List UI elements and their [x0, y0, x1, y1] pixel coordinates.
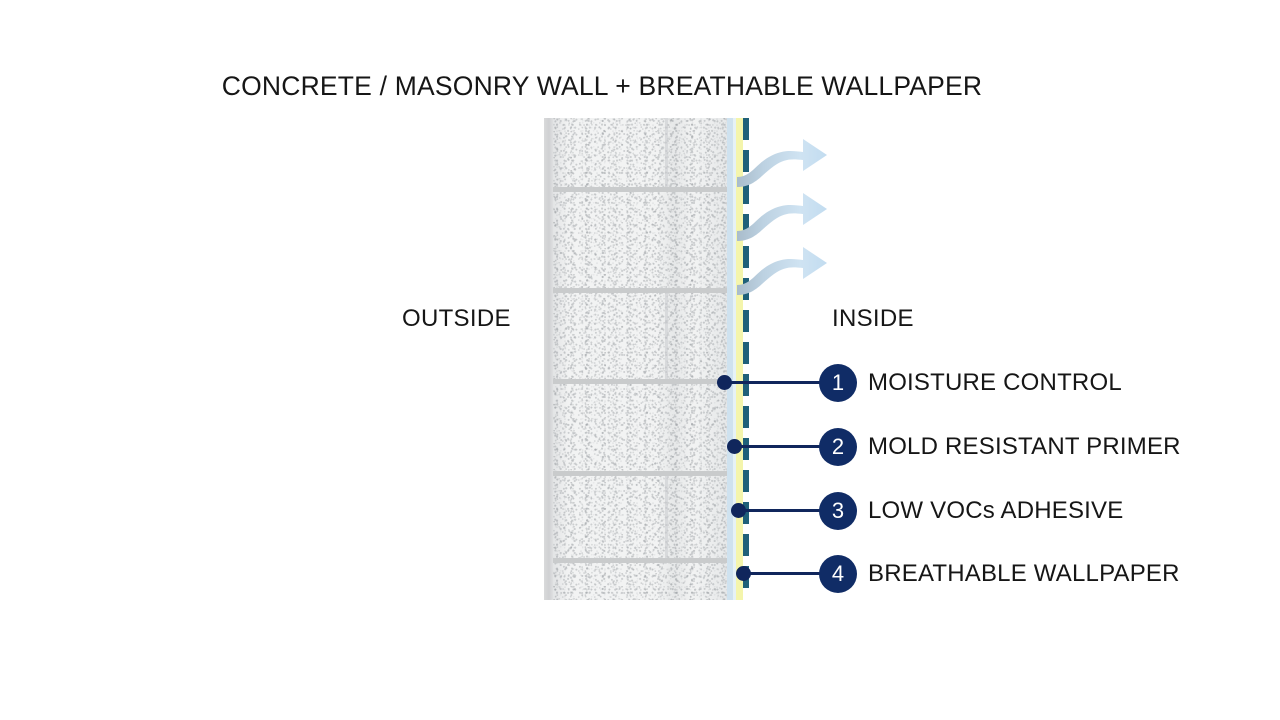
airflow-arrow-icon	[737, 139, 827, 187]
mortar-joint	[553, 187, 727, 192]
masonry-wall-body	[553, 118, 727, 600]
mortar-joint	[553, 471, 727, 476]
head-joint	[665, 293, 668, 379]
callout-badge-4[interactable]: 4	[819, 555, 857, 593]
mortar-joint	[553, 288, 727, 293]
airflow-arrows-group	[735, 125, 845, 295]
callout-label-4: BREATHABLE WALLPAPER	[868, 555, 1180, 593]
callout-label-3: LOW VOCs ADHESIVE	[868, 492, 1123, 530]
callout-badge-2[interactable]: 2	[819, 428, 857, 466]
callout-leader-line	[745, 572, 823, 575]
callout-leader-line	[736, 445, 823, 448]
mortar-joint	[553, 558, 727, 563]
diagram-canvas: CONCRETE / MASONRY WALL + BREATHABLE WAL…	[0, 0, 1280, 720]
caption-inside: INSIDE	[832, 305, 914, 333]
wall-outer-edge-shadow	[544, 118, 553, 600]
caption-outside: OUTSIDE	[402, 305, 511, 333]
airflow-arrow-icon	[737, 193, 827, 241]
callout-badge-3[interactable]: 3	[819, 492, 857, 530]
head-joint	[665, 476, 668, 558]
wall-assembly-section	[544, 118, 748, 600]
callout-leader-line	[726, 381, 823, 384]
callout-badge-1[interactable]: 1	[819, 364, 857, 402]
airflow-arrow-icon	[737, 247, 827, 295]
callout-label-2: MOLD RESISTANT PRIMER	[868, 428, 1181, 466]
mortar-joint	[553, 379, 727, 384]
callout-label-1: MOISTURE CONTROL	[868, 364, 1122, 402]
page-title: CONCRETE / MASONRY WALL + BREATHABLE WAL…	[0, 71, 1242, 102]
callout-leader-line	[740, 509, 823, 512]
head-joint	[665, 118, 668, 187]
